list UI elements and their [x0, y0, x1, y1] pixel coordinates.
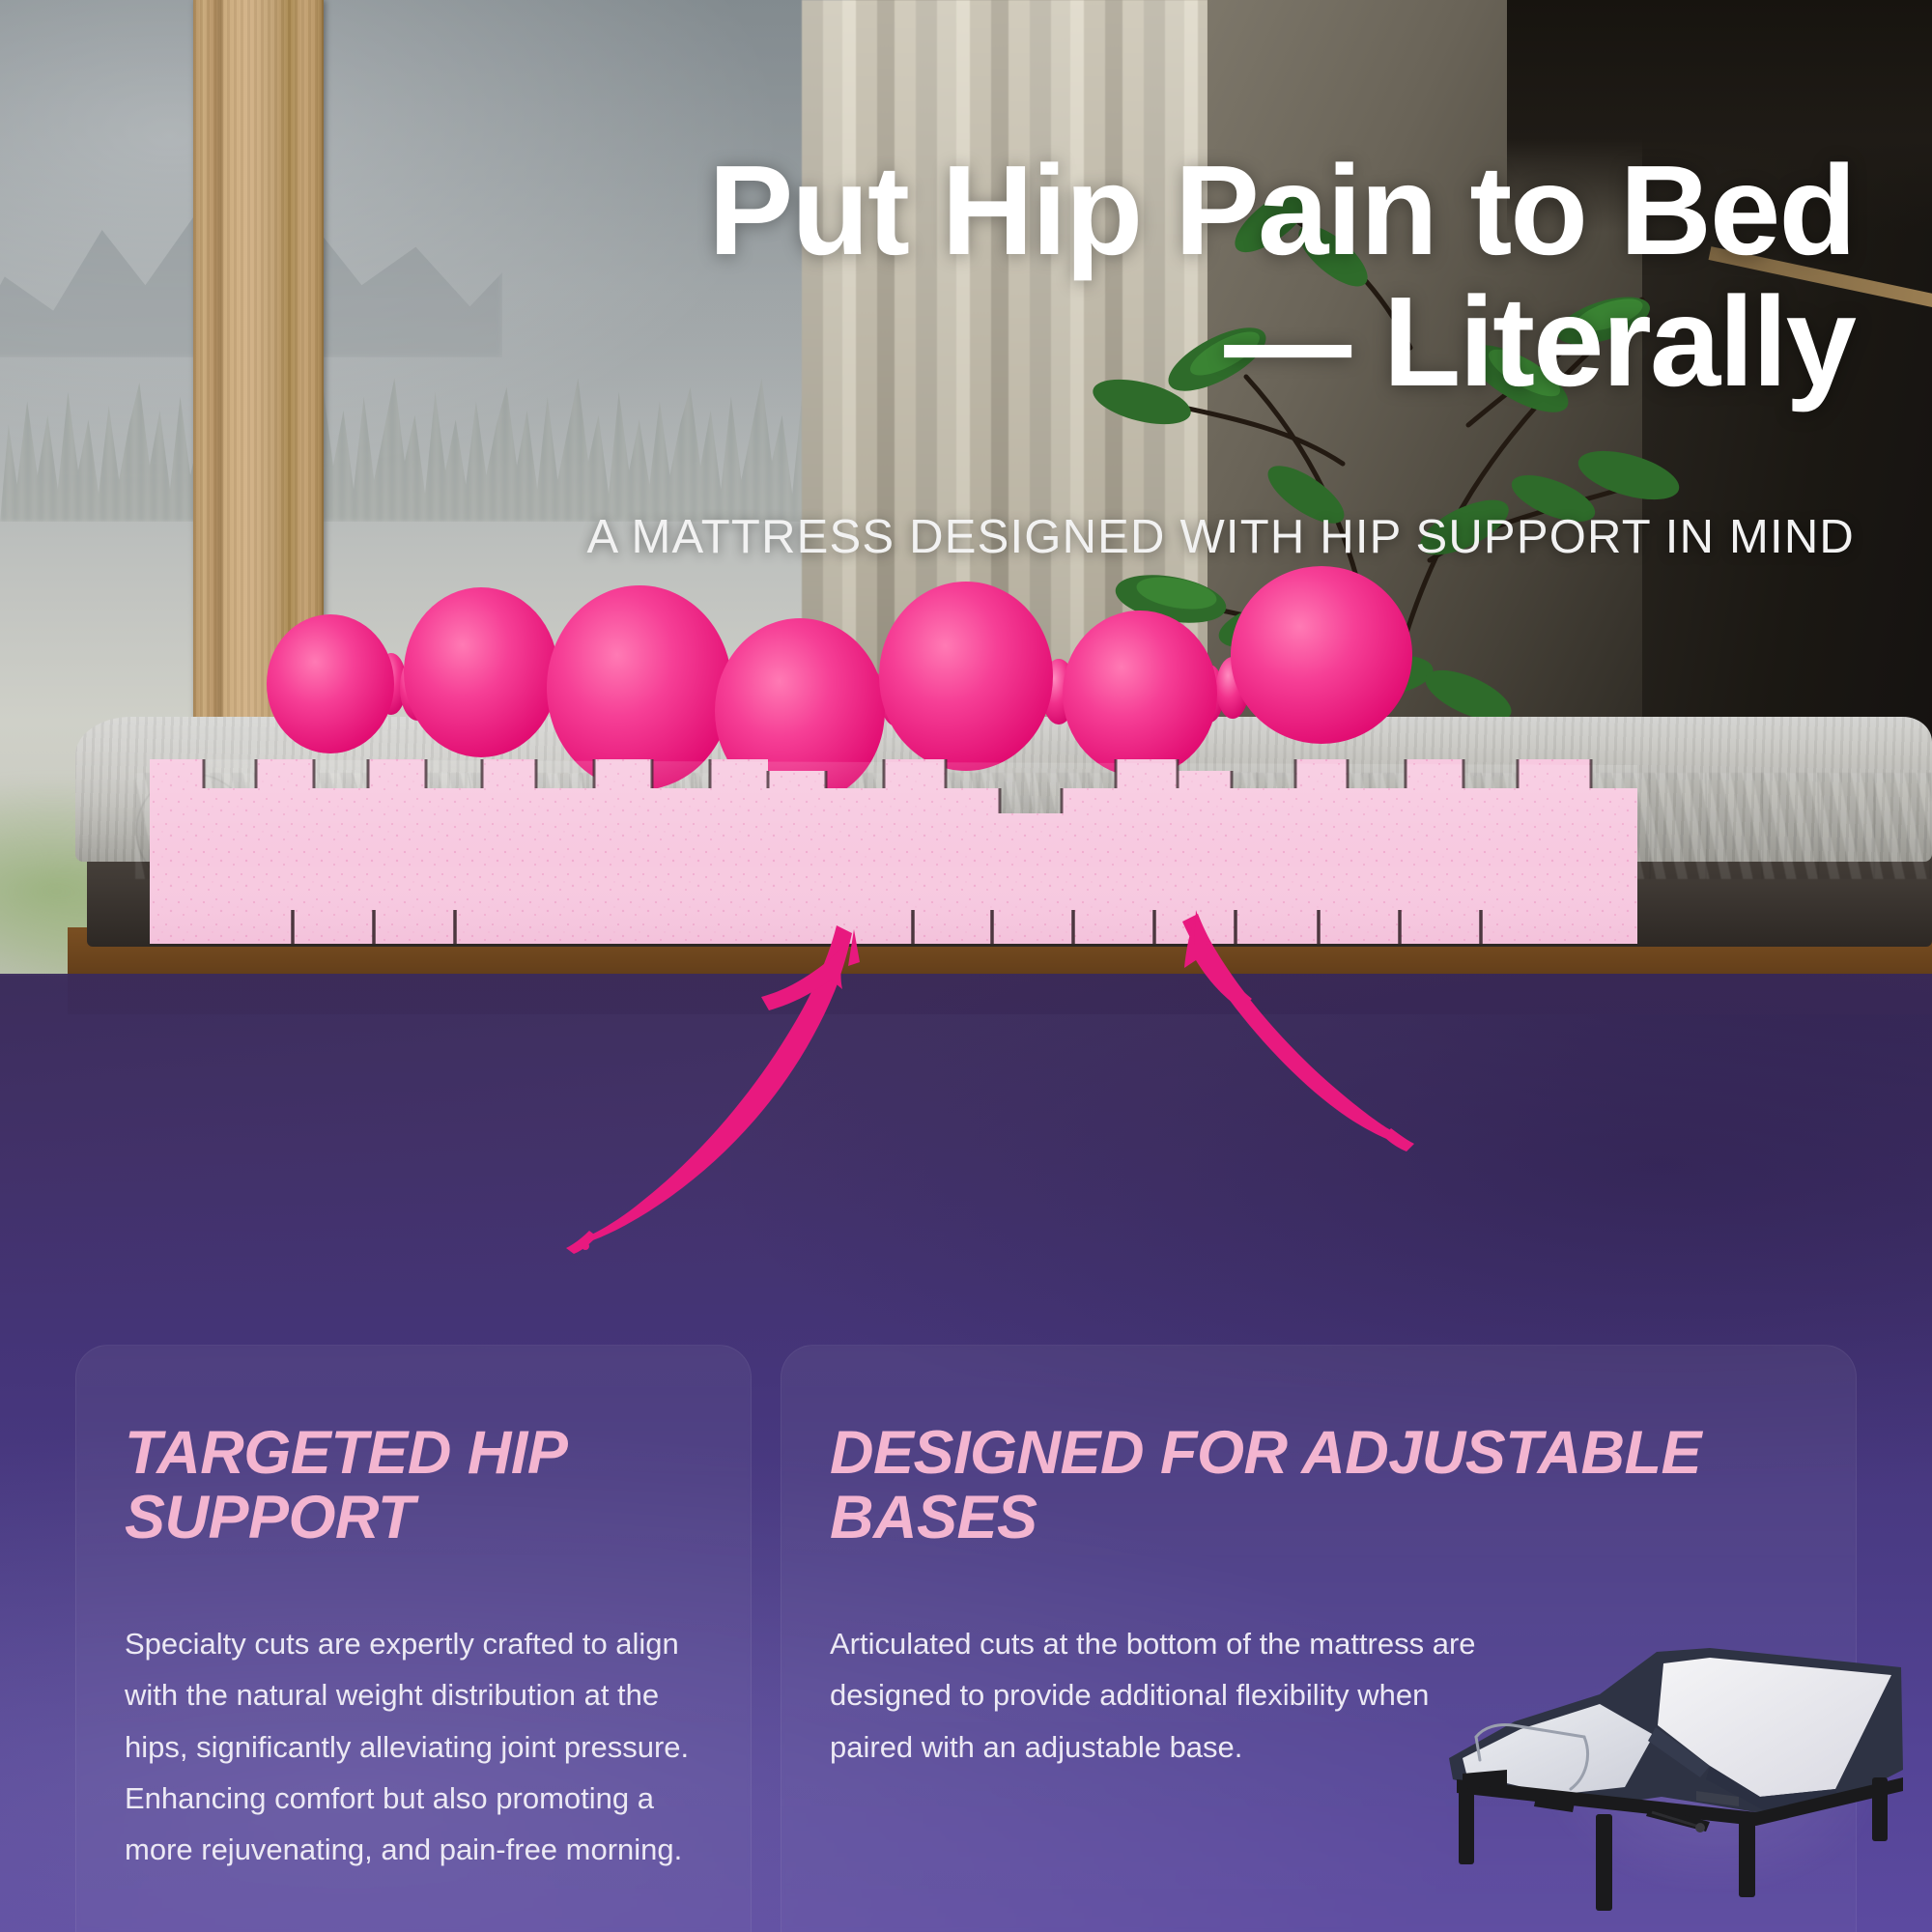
infographic-canvas: Put Hip Pain to Bed — Literally A MATTRE… — [0, 0, 1932, 1932]
adjustable-bed-base-photo — [1420, 1642, 1922, 1922]
page-subtitle: A MATTRESS DESIGNED WITH HIP SUPPORT IN … — [587, 510, 1855, 564]
card-body: Specialty cuts are expertly crafted to a… — [125, 1618, 712, 1876]
card-targeted-hip-support[interactable]: TARGETED HIP SUPPORT Specialty cuts are … — [75, 1345, 752, 1932]
page-title: Put Hip Pain to Bed — Literally — [0, 145, 1855, 408]
card-title: TARGETED HIP SUPPORT — [125, 1421, 722, 1551]
headline-line-2: — Literally — [0, 276, 1855, 408]
pink-foam-layer-with-articulated-cuts — [150, 746, 1637, 944]
headline-line-1: Put Hip Pain to Bed — [708, 139, 1855, 281]
card-title: DESIGNED FOR ADJUSTABLE BASES — [830, 1421, 1827, 1551]
card-body: Articulated cuts at the bottom of the ma… — [830, 1618, 1518, 1773]
